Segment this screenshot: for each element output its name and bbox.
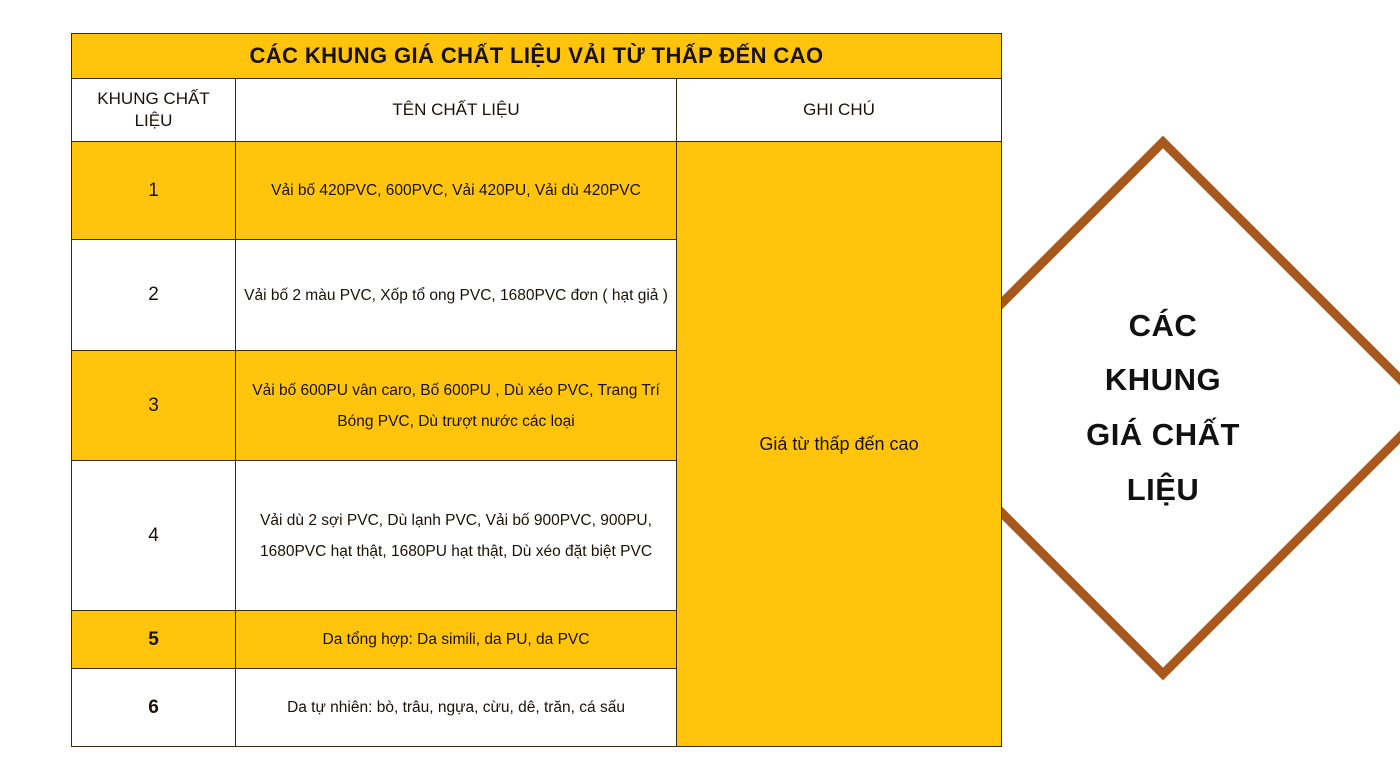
column-header-ten-chat-lieu: TÊN CHẤT LIỆU xyxy=(236,79,677,142)
row-number-6: 6 xyxy=(72,669,236,747)
row-material-2: Vải bố 2 màu PVC, Xốp tổ ong PVC, 1680PV… xyxy=(236,240,677,351)
note-merged-cell: Giá từ thấp đến cao xyxy=(677,142,1002,747)
column-header-khung-chat-lieu: KHUNG CHẤT LIỆU xyxy=(72,79,236,142)
material-price-table: CÁC KHUNG GIÁ CHẤT LIỆU VẢI TỪ THẤP ĐẾN … xyxy=(71,33,1002,747)
table-title-row: CÁC KHUNG GIÁ CHẤT LIỆU VẢI TỪ THẤP ĐẾN … xyxy=(72,34,1002,79)
row-material-6: Da tự nhiên: bò, trâu, ngựa, cừu, dê, tr… xyxy=(236,669,677,747)
column-header-ghi-chu: GHI CHÚ xyxy=(677,79,1002,142)
row-number-1: 1 xyxy=(72,142,236,240)
poster-canvas: CÁC KHUNG GIÁ CHẤT LIỆU CÁC KHUNG GIÁ CH… xyxy=(0,0,1400,770)
row-material-4: Vải dù 2 sợi PVC, Dù lạnh PVC, Vải bố 90… xyxy=(236,461,677,611)
row-number-4: 4 xyxy=(72,461,236,611)
row-number-5: 5 xyxy=(72,611,236,669)
table-row: 1 Vải bố 420PVC, 600PVC, Vải 420PU, Vải … xyxy=(72,142,1002,240)
table-header-row: KHUNG CHẤT LIỆU TÊN CHẤT LIỆU GHI CHÚ xyxy=(72,79,1002,142)
price-table-container: CÁC KHUNG GIÁ CHẤT LIỆU VẢI TỪ THẤP ĐẾN … xyxy=(71,33,1001,747)
row-number-3: 3 xyxy=(72,351,236,461)
row-number-2: 2 xyxy=(72,240,236,351)
table-title: CÁC KHUNG GIÁ CHẤT LIỆU VẢI TỪ THẤP ĐẾN … xyxy=(72,34,1002,79)
row-material-1: Vải bố 420PVC, 600PVC, Vải 420PU, Vải dù… xyxy=(236,142,677,240)
row-material-5: Da tổng hợp: Da simili, da PU, da PVC xyxy=(236,611,677,669)
row-material-3: Vải bố 600PU vân caro, Bố 600PU , Dù xéo… xyxy=(236,351,677,461)
